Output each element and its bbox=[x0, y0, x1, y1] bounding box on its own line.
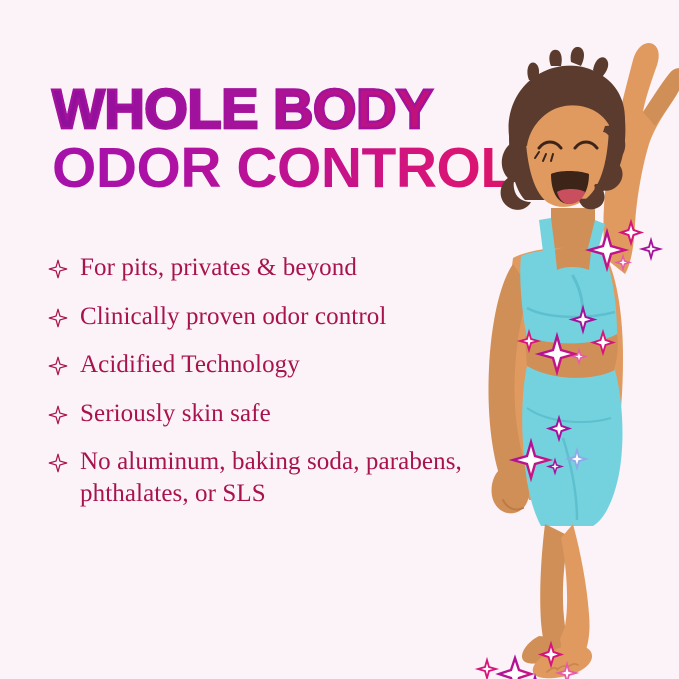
headline-line-1: WHOLE BODY bbox=[52, 82, 522, 135]
headline-block: WHOLE BODY ODOR CONTROL bbox=[52, 82, 522, 195]
benefits-list: For pits, privates & beyond Clinically p… bbox=[48, 252, 478, 509]
hair-spike-2 bbox=[571, 47, 584, 66]
sparkle-star-icon bbox=[48, 257, 68, 283]
sparkle-star-icon bbox=[48, 451, 68, 477]
list-item-label: Acidified Technology bbox=[80, 349, 300, 381]
sparkle-icon bbox=[478, 660, 496, 678]
headline-line-2: ODOR CONTROL bbox=[52, 141, 522, 195]
list-item: Acidified Technology bbox=[48, 349, 478, 381]
sparkle-icon bbox=[642, 240, 660, 258]
list-item-label: For pits, privates & beyond bbox=[80, 252, 357, 284]
list-item-label: Clinically proven odor control bbox=[80, 301, 386, 333]
list-item-label: Seriously skin safe bbox=[80, 398, 271, 430]
sparkle-star-icon bbox=[48, 403, 68, 429]
list-item: No aluminum, baking soda, parabens, phth… bbox=[48, 446, 478, 509]
woman-illustration bbox=[455, 8, 679, 679]
list-item-label: No aluminum, baking soda, parabens, phth… bbox=[80, 446, 478, 509]
sparkle-star-icon bbox=[48, 354, 68, 380]
list-item: Clinically proven odor control bbox=[48, 301, 478, 333]
list-item: Seriously skin safe bbox=[48, 398, 478, 430]
hair-spike-4 bbox=[527, 62, 539, 82]
sparkle-star-icon bbox=[48, 306, 68, 332]
list-item: For pits, privates & beyond bbox=[48, 252, 478, 284]
poster-canvas: WHOLE BODY ODOR CONTROL For pits, privat… bbox=[0, 0, 679, 679]
hair-spike-1 bbox=[549, 50, 561, 66]
top-neckline bbox=[555, 247, 591, 270]
shorts bbox=[522, 366, 622, 526]
neck bbox=[551, 208, 595, 253]
